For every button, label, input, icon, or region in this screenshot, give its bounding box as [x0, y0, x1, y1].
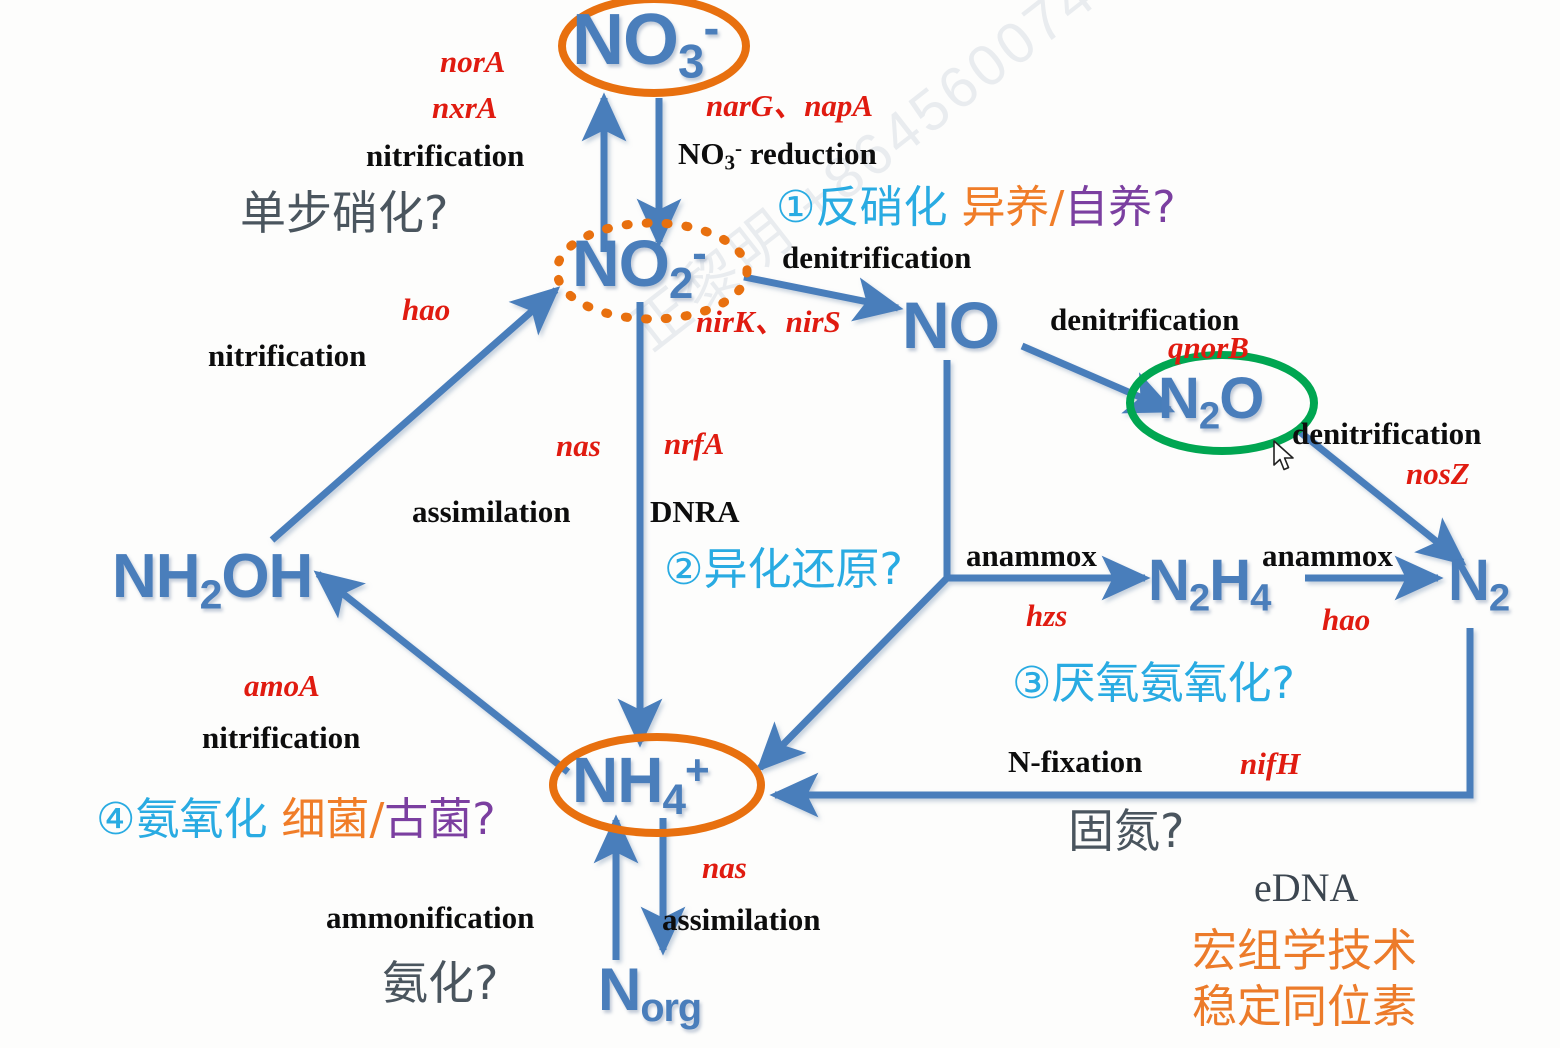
- label-isotope: 稳定同位素: [1192, 982, 1417, 1032]
- process-nitrification-left: nitrification: [208, 340, 366, 371]
- process-nitrification-top: nitrification: [366, 140, 524, 171]
- process-assimilation-bottom: assimilation: [662, 904, 820, 935]
- annotation-q4-a: 细菌: [281, 794, 369, 845]
- nitrogen-cycle-diagram: 正黎明 +8645600742: [0, 0, 1560, 1048]
- gene-amoA: amoA: [244, 670, 320, 701]
- species-no: NO: [902, 292, 999, 358]
- species-norg: Norg: [598, 960, 701, 1029]
- gene-nosZ: nosZ: [1406, 458, 1470, 489]
- process-denitrification-3: denitrification: [1292, 418, 1481, 449]
- annotation-q1: ①反硝化 异养/自养?: [776, 186, 1176, 230]
- gene-nifH: nifH: [1240, 748, 1300, 779]
- annotation-single-step-nitrification: 单步硝化?: [240, 190, 448, 236]
- gene-nrfA: nrfA: [664, 428, 724, 459]
- species-n2h4: N2H4: [1148, 552, 1270, 618]
- annotation-ammonification-question: 氨化?: [382, 960, 498, 1006]
- annotation-n-fixation-question: 固氮?: [1068, 808, 1184, 854]
- species-no3: NO3-: [572, 4, 718, 86]
- process-dnra: DNRA: [650, 496, 740, 527]
- species-n2o: N2O: [1158, 370, 1263, 436]
- mouse-pointer-icon: [1272, 440, 1298, 474]
- species-n2: N2: [1448, 552, 1509, 618]
- species-nh4: NH4+: [572, 748, 709, 821]
- process-ammonification: ammonification: [326, 902, 534, 933]
- label-edna: eDNA: [1254, 868, 1358, 908]
- species-nh2oh: NH2OH: [112, 546, 312, 615]
- annotation-q3: ③厌氧氨氧化?: [1012, 662, 1295, 706]
- annotation-q4-sep: /: [369, 794, 384, 845]
- gene-narG-napA: narG、napA: [706, 90, 873, 121]
- gene-hzs: hzs: [1026, 600, 1067, 631]
- gene-nirK-nirS: nirK、nirS: [696, 306, 841, 337]
- gene-nas-mid: nas: [556, 430, 601, 461]
- annotation-q2: ②异化还原?: [664, 548, 903, 592]
- process-n-fixation: N-fixation: [1008, 746, 1142, 777]
- process-no3-reduction: NO3- reduction: [678, 138, 877, 173]
- annotation-q1-sep: /: [1049, 182, 1064, 233]
- annotation-q1-b: 自养?: [1064, 182, 1175, 233]
- process-anammox-2: anammox: [1262, 540, 1393, 571]
- gene-hao-left: hao: [402, 294, 450, 325]
- gene-nxrA: nxrA: [432, 92, 497, 123]
- annotation-q1-a: 异养: [961, 182, 1049, 233]
- process-denitrification-2: denitrification: [1050, 304, 1239, 335]
- process-assimilation-mid: assimilation: [412, 496, 570, 527]
- annotation-q4-b: 古菌?: [384, 794, 495, 845]
- annotation-q4: ④氨氧化 细菌/古菌?: [96, 798, 496, 842]
- process-denitrification-1: denitrification: [782, 242, 971, 273]
- label-omics: 宏组学技术: [1192, 926, 1417, 976]
- process-nitrification-bottom: nitrification: [202, 722, 360, 753]
- process-anammox-1: anammox: [966, 540, 1097, 571]
- gene-hao-right: hao: [1322, 604, 1370, 635]
- annotation-q4-num: ④氨氧化: [96, 794, 281, 845]
- annotation-q1-num: ①反硝化: [776, 182, 961, 233]
- species-no2: NO2-: [572, 230, 706, 307]
- gene-nas-bottom: nas: [702, 852, 747, 883]
- gene-norA: norA: [440, 46, 505, 77]
